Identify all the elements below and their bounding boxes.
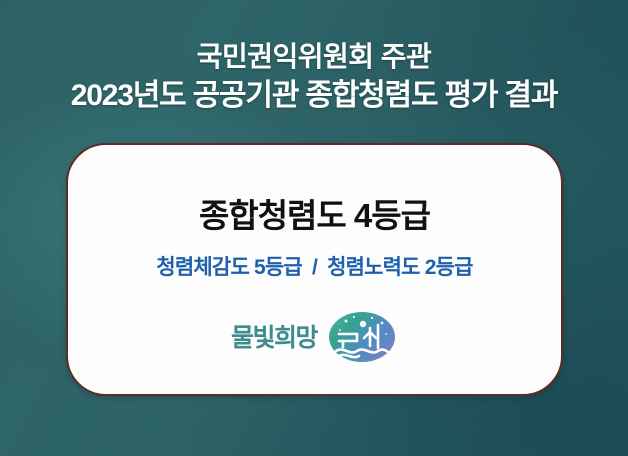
- result-card: 종합청렴도 4등급 청렴체감도 5등급 / 청렴노력도 2등급 물빛희망: [66, 143, 563, 396]
- sub-grades-line: 청렴체감도 5등급 / 청렴노력도 2등급: [68, 251, 561, 281]
- header-subtitle-line: 국민권익위원회 주관: [0, 40, 628, 74]
- header-title-line: 2023년도 공공기관 종합청렴도 평가 결과: [0, 78, 628, 115]
- poster-header: 국민권익위원회 주관 2023년도 공공기관 종합청렴도 평가 결과: [0, 40, 628, 115]
- logo-wordmark: 물빛희망: [231, 326, 317, 351]
- city-logo: 물빛희망: [68, 308, 561, 368]
- overall-integrity-grade: 종합청렴도 4등급: [68, 189, 561, 237]
- poster-canvas: 국민권익위원회 주관 2023년도 공공기관 종합청렴도 평가 결과 종합청렴도…: [0, 0, 628, 456]
- gunsan-city-emblem-icon: [326, 308, 398, 368]
